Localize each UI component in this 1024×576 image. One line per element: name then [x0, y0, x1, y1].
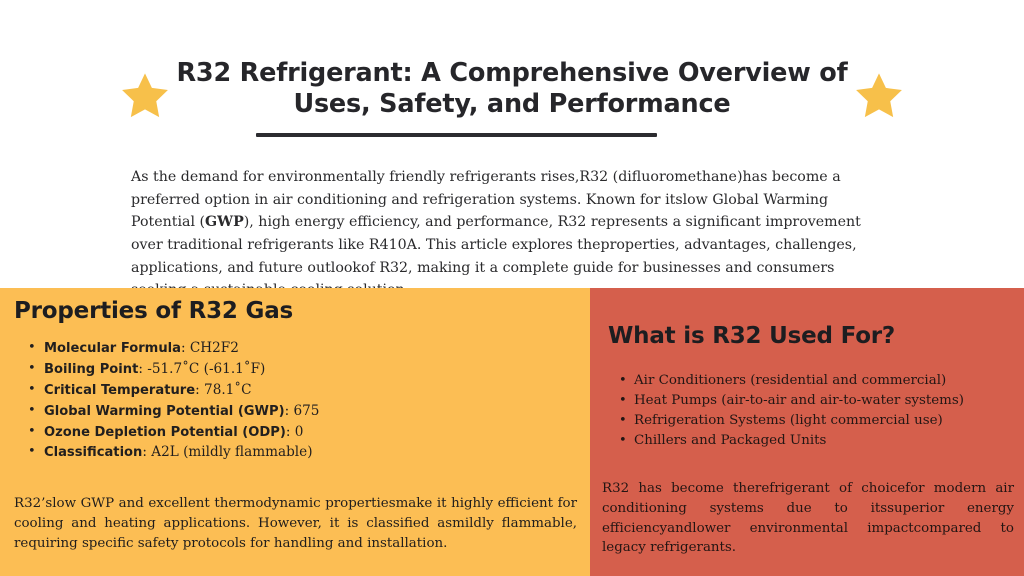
property-label: Ozone Depletion Potential (ODP): [44, 425, 286, 440]
property-value: : 0: [286, 424, 304, 440]
uses-list: Air Conditioners (residential and commer…: [612, 371, 1024, 451]
list-item: Boiling Point: -51.7˚C (-61.1˚F): [44, 359, 604, 380]
properties-list: Molecular Formula: CH2F2Boiling Point: -…: [18, 338, 604, 463]
list-item: Molecular Formula: CH2F2: [44, 338, 604, 359]
intro-paragraph: As the demand for environmentally friend…: [131, 166, 867, 301]
list-item: Chillers and Packaged Units: [634, 431, 1024, 451]
property-label: Critical Temperature: [44, 383, 195, 398]
list-item: Global Warming Potential (GWP): 675: [44, 401, 604, 422]
properties-panel-heading: Properties of R32 Gas: [14, 298, 293, 324]
property-value: : 675: [285, 403, 320, 419]
property-label: Classification: [44, 445, 142, 460]
page-title-line-2: Uses, Safety, and Performance: [293, 89, 730, 119]
property-value: : CH2F2: [181, 340, 239, 356]
uses-note: R32 has become therefrigerant of choicef…: [602, 479, 1014, 557]
list-item: Critical Temperature: 78.1˚C: [44, 380, 604, 401]
uses-panel-heading: What is R32 Used For?: [608, 323, 895, 349]
properties-note: R32’slow GWP and excellent thermodynamic…: [14, 494, 577, 553]
page-title: R32 Refrigerant: A Comprehensive Overvie…: [162, 58, 862, 120]
property-label: Molecular Formula: [44, 341, 181, 356]
page-title-line-1: R32 Refrigerant: A Comprehensive Overvie…: [176, 58, 847, 88]
title-divider: [256, 133, 657, 137]
panels-section: Properties of R32 Gas Molecular Formula:…: [0, 288, 1024, 576]
property-value: : -51.7˚C (-61.1˚F): [138, 361, 265, 377]
list-item: Heat Pumps (air-to-air and air-to-water …: [634, 391, 1024, 411]
list-item: Ozone Depletion Potential (ODP): 0: [44, 422, 604, 443]
properties-panel: Properties of R32 Gas Molecular Formula:…: [0, 288, 590, 576]
star-icon: [854, 70, 904, 120]
list-item: Classification: A2L (mildly flammable): [44, 442, 604, 463]
list-item: Refrigeration Systems (light commercial …: [634, 411, 1024, 431]
list-item: Air Conditioners (residential and commer…: [634, 371, 1024, 391]
header-section: R32 Refrigerant: A Comprehensive Overvie…: [0, 0, 1024, 288]
property-value: : 78.1˚C: [195, 382, 251, 398]
property-value: : A2L (mildly flammable): [142, 444, 312, 460]
property-label: Global Warming Potential (GWP): [44, 404, 285, 419]
uses-panel: What is R32 Used For? Air Conditioners (…: [590, 288, 1024, 576]
property-label: Boiling Point: [44, 362, 138, 377]
title-row: R32 Refrigerant: A Comprehensive Overvie…: [100, 58, 924, 120]
